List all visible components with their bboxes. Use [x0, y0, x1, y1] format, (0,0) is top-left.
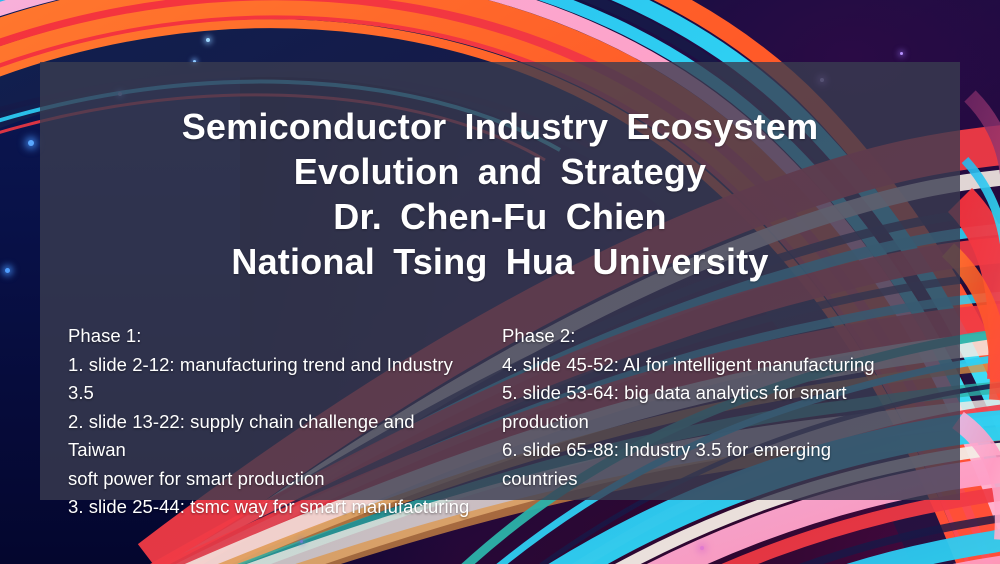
- phase-2-heading: Phase 2:: [502, 322, 904, 351]
- phase-1-item-2-continued: soft power for smart production: [68, 465, 472, 494]
- presentation-slide: Semiconductor Industry Ecosystem Evoluti…: [0, 0, 1000, 564]
- slide-title: Semiconductor Industry Ecosystem Evoluti…: [40, 104, 960, 284]
- title-line-1: Semiconductor Industry Ecosystem: [40, 104, 960, 149]
- title-line-3-presenter: Dr. Chen-Fu Chien: [40, 194, 960, 239]
- agenda-column-phase-2: Phase 2: 4. slide 45-52: AI for intellig…: [472, 322, 904, 482]
- agenda-columns: Phase 1: 1. slide 2-12: manufacturing tr…: [40, 322, 960, 482]
- phase-1-item-1: 1. slide 2-12: manufacturing trend and I…: [68, 351, 472, 408]
- phase-2-item-5: 5. slide 53-64: big data analytics for s…: [502, 379, 904, 408]
- title-line-2: Evolution and Strategy: [40, 149, 960, 194]
- agenda-column-phase-1: Phase 1: 1. slide 2-12: manufacturing tr…: [40, 322, 472, 482]
- phase-1-item-3: 3. slide 25-44: tsmc way for smart manuf…: [68, 493, 472, 522]
- phase-2-item-6: 6. slide 65-88: Industry 3.5 for emergin…: [502, 436, 904, 493]
- phase-2-item-5-continued: production: [502, 408, 904, 437]
- title-line-4-affiliation: National Tsing Hua University: [40, 239, 960, 284]
- phase-1-heading: Phase 1:: [68, 322, 472, 351]
- phase-2-item-4: 4. slide 45-52: AI for intelligent manuf…: [502, 351, 904, 380]
- phase-1-item-2: 2. slide 13-22: supply chain challenge a…: [68, 408, 472, 465]
